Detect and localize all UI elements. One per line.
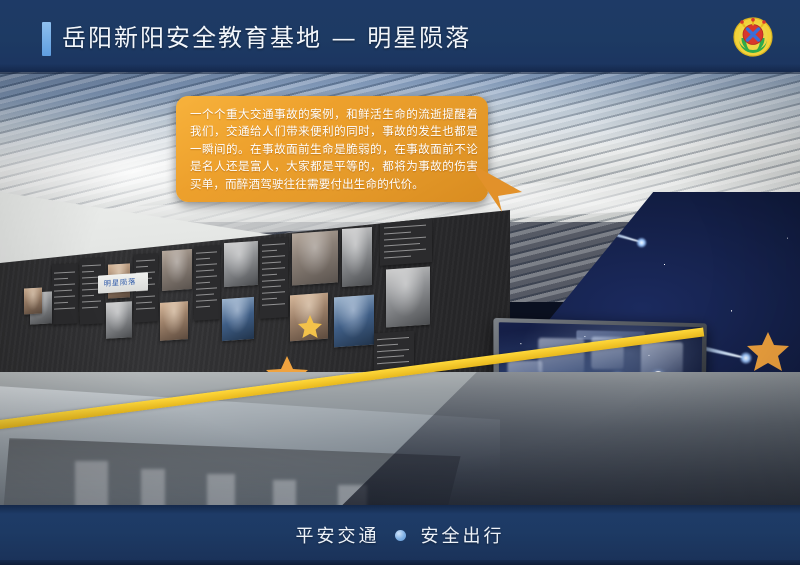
callout-text: 一个个重大交通事故的案例，和鲜活生命的流逝提醒着我们，交通给人们带来便利的同时，…: [190, 106, 478, 193]
victim-portrait: [334, 295, 374, 348]
slogan-left: 平安交通: [296, 522, 380, 548]
footer-slogan: 平安交通 安全出行: [0, 505, 800, 565]
caption-callout: 一个个重大交通事故的案例，和鲜活生命的流逝提醒着我们，交通给人们带来便利的同时，…: [176, 96, 516, 216]
victim-portrait: [342, 227, 372, 287]
yellow-star-decoration: [297, 314, 323, 340]
wall-text-panel: [260, 237, 288, 319]
page-footer: 平安交通 安全出行: [0, 505, 800, 565]
victim-portrait: [292, 230, 338, 285]
victim-portrait: [222, 297, 254, 341]
poster-page: 岳阳新阳安全教育基地 — 明星陨落: [0, 0, 800, 565]
victim-portrait: [24, 288, 42, 315]
traffic-safety-emblem-icon: [728, 11, 778, 61]
page-title: 岳阳新阳安全教育基地 — 明星陨落: [62, 21, 471, 55]
victim-portrait: [160, 301, 188, 341]
slogan-separator-dot: [395, 530, 406, 541]
wall-text-panel: [380, 218, 432, 266]
victim-portrait: [386, 266, 430, 327]
wall-section-sign: 明星陨落: [98, 272, 148, 293]
victim-portrait: [224, 241, 258, 287]
victim-portrait: [162, 249, 192, 291]
victim-portrait: [106, 301, 132, 339]
wall-sign-label: 明星陨落: [104, 277, 136, 289]
wall-text-panel: [52, 263, 78, 324]
orange-star-decoration: [746, 330, 790, 374]
header-shadow: [0, 64, 800, 74]
wall-text-panel: [194, 245, 220, 321]
header-accent-bar: [42, 22, 51, 56]
footer-bottom-line: [0, 560, 800, 565]
slogan-right: 安全出行: [421, 522, 505, 548]
page-header: 岳阳新阳安全教育基地 — 明星陨落: [0, 0, 800, 72]
